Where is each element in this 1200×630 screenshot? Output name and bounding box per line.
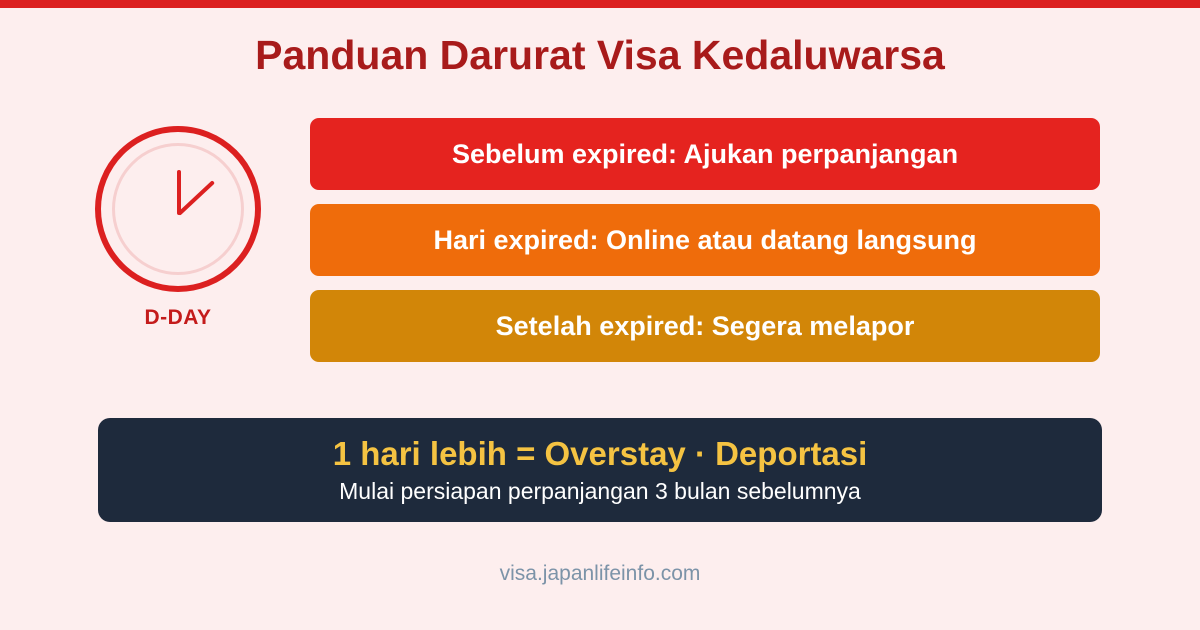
warning-headline: 1 hari lebih = Overstay · Deportasi xyxy=(333,435,868,473)
top-accent-bar xyxy=(0,0,1200,8)
dday-label: D-DAY xyxy=(92,306,264,330)
step-item-day-of-expiry: Hari expired: Online atau datang langsun… xyxy=(310,204,1100,276)
step-label: Hari expired: Online atau datang langsun… xyxy=(433,225,976,256)
clock-section: D-DAY xyxy=(92,126,264,330)
infographic-page: Panduan Darurat Visa Kedaluwarsa D-DAY S… xyxy=(0,0,1200,630)
warning-subtext: Mulai persiapan perpanjangan 3 bulan seb… xyxy=(339,478,861,505)
page-title: Panduan Darurat Visa Kedaluwarsa xyxy=(0,32,1200,79)
step-item-after-expired: Setelah expired: Segera melapor xyxy=(310,290,1100,362)
step-label: Setelah expired: Segera melapor xyxy=(496,311,915,342)
warning-box: 1 hari lebih = Overstay · Deportasi Mula… xyxy=(98,418,1102,522)
step-label: Sebelum expired: Ajukan perpanjangan xyxy=(452,139,958,170)
steps-list: Sebelum expired: Ajukan perpanjangan Har… xyxy=(310,118,1100,376)
footer-url: visa.japanlifeinfo.com xyxy=(0,562,1200,586)
clock-icon xyxy=(95,126,261,292)
step-item-before-expired: Sebelum expired: Ajukan perpanjangan xyxy=(310,118,1100,190)
